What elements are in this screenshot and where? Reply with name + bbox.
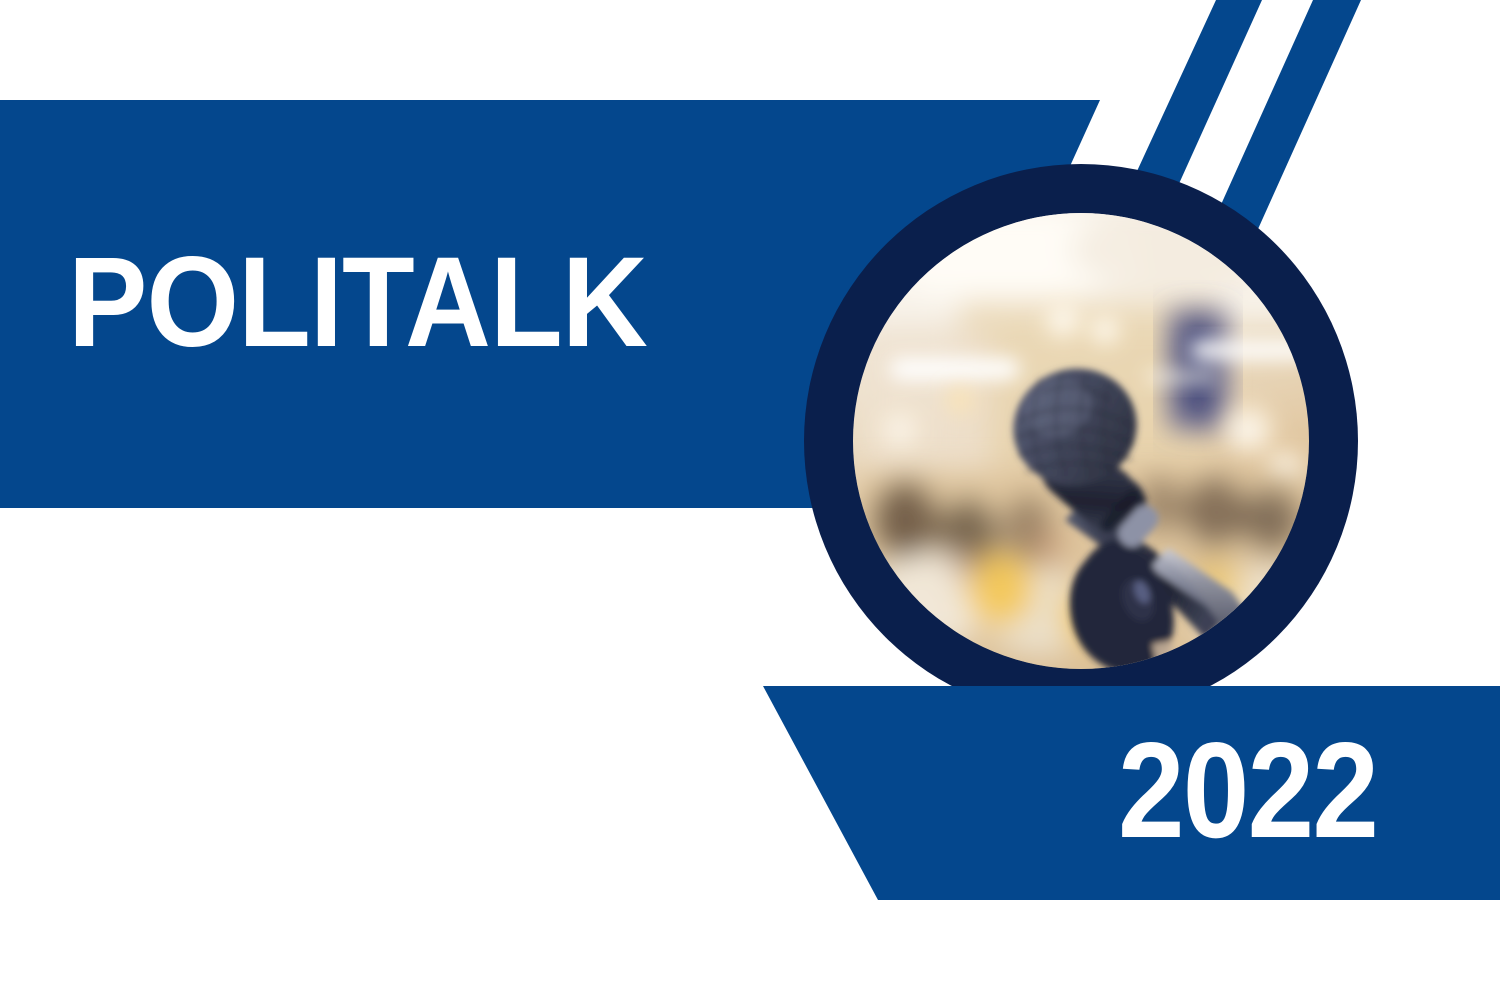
politalk-banner: POLITALK 2022 (0, 0, 1500, 1000)
banner-artwork (0, 0, 1500, 1000)
year-band-shape (763, 686, 1500, 900)
